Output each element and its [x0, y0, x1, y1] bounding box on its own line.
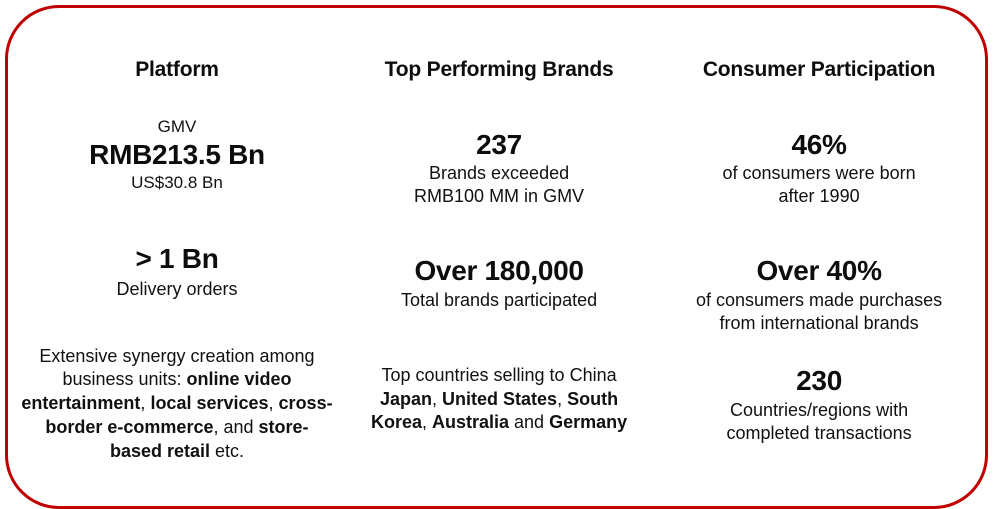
paragraph-top-countries: Top countries selling to China Japan, Un… — [354, 364, 644, 435]
column-header-platform: Platform — [135, 58, 219, 81]
stat-note-gmv-usd: US$30.8 Bn — [18, 173, 336, 193]
column-platform: Platform GMV RMB213.5 Bn US$30.8 Bn > 1 … — [18, 0, 336, 463]
stat-value-delivery-orders: > 1 Bn — [18, 243, 336, 274]
stat-block-synergy: Extensive synergy creation among busines… — [19, 345, 334, 464]
stat-note-international-purchases: of consumers made purchases — [656, 289, 982, 312]
stat-block-delivery-orders: > 1 Bn Delivery orders — [18, 243, 336, 300]
stat-block-countries-regions: 230 Countries/regions with completed tra… — [656, 365, 982, 445]
stat-value-countries-regions: 230 — [656, 365, 982, 396]
stat-note2-countries-regions: completed transactions — [656, 422, 982, 445]
infographic-slide: Platform GMV RMB213.5 Bn US$30.8 Bn > 1 … — [0, 0, 1000, 508]
stat-label-gmv: GMV — [18, 117, 336, 137]
column-top-performing-brands: Top Performing Brands 237 Brands exceede… — [346, 0, 652, 435]
column-consumer-participation: Consumer Participation 46% of consumers … — [656, 0, 982, 445]
stat-value-brands-exceeded: 237 — [346, 129, 652, 160]
stat-block-gmv: GMV RMB213.5 Bn US$30.8 Bn — [18, 117, 336, 195]
stat-note2-international-purchases: from international brands — [656, 312, 982, 335]
stat-block-born-after-1990: 46% of consumers were born after 1990 — [656, 129, 982, 208]
paragraph-synergy: Extensive synergy creation among busines… — [19, 345, 334, 464]
stats-columns: Platform GMV RMB213.5 Bn US$30.8 Bn > 1 … — [0, 0, 1000, 508]
stat-note-countries-regions: Countries/regions with — [656, 399, 982, 422]
stat-block-brands-exceeded: 237 Brands exceeded RMB100 MM in GMV — [346, 129, 652, 208]
stat-value-born-after-1990: 46% — [656, 129, 982, 160]
stat-value-gmv-rmb: RMB213.5 Bn — [18, 139, 336, 170]
stat-block-total-brands: Over 180,000 Total brands participated — [346, 255, 652, 312]
stat-block-international-purchases: Over 40% of consumers made purchases fro… — [656, 255, 982, 335]
stat-note-brands-exceeded: Brands exceeded — [346, 162, 652, 185]
stat-note-born-after-1990: of consumers were born — [656, 162, 982, 185]
stat-note-delivery-orders: Delivery orders — [18, 278, 336, 301]
stat-value-international-purchases: Over 40% — [656, 255, 982, 286]
stat-value-total-brands: Over 180,000 — [346, 255, 652, 286]
column-header-consumer-participation: Consumer Participation — [703, 58, 935, 81]
stat-note2-born-after-1990: after 1990 — [656, 185, 982, 208]
column-header-top-performing-brands: Top Performing Brands — [385, 58, 614, 81]
stat-note2-brands-exceeded: RMB100 MM in GMV — [346, 185, 652, 208]
stat-block-top-countries: Top countries selling to China Japan, Un… — [354, 364, 644, 435]
stat-note-total-brands: Total brands participated — [346, 289, 652, 312]
